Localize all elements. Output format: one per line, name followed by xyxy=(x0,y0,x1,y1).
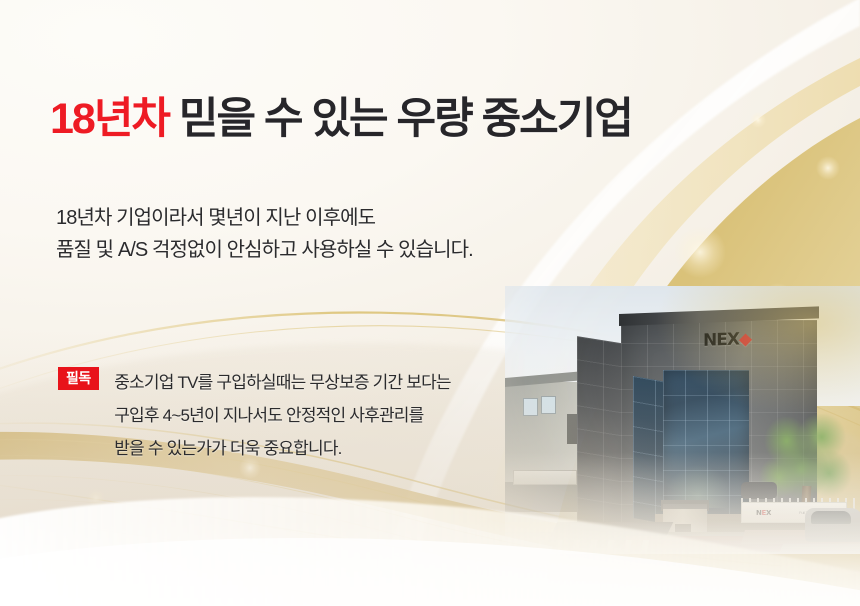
page-title: 18년차 믿을 수 있는 우량 중소기업 xyxy=(50,84,632,146)
body-copy-line: 18년차 기업이라서 몇년이 지난 이후에도 xyxy=(56,202,473,234)
body-copy: 18년차 기업이라서 몇년이 지난 이후에도 품질 및 A/S 걱정없이 안심하… xyxy=(56,202,473,266)
notice-badge: 필독 xyxy=(58,367,99,390)
promo-banner: NEX◆ NEX Full Time Safety Test xyxy=(0,0,860,606)
notice-text: 중소기업 TV를 구입하실때는 무상보증 기간 보다는 구입후 4~5년이 지나… xyxy=(114,366,451,465)
notice-line: 중소기업 TV를 구입하실때는 무상보증 기간 보다는 xyxy=(114,366,451,399)
notice-block: 필독 중소기업 TV를 구입하실때는 무상보증 기간 보다는 구입후 4~5년이… xyxy=(58,366,451,465)
headline-rest: 믿을 수 있는 우량 중소기업 xyxy=(179,95,632,143)
headline-accent: 18년차 xyxy=(50,95,169,143)
body-copy-line: 품질 및 A/S 걱정없이 안심하고 사용하실 수 있습니다. xyxy=(56,234,473,266)
photo-gold-overlay xyxy=(505,286,860,554)
company-building-photo: NEX◆ NEX Full Time Safety Test xyxy=(505,286,860,554)
notice-line: 구입후 4~5년이 지나서도 안정적인 사후관리를 xyxy=(114,399,451,432)
notice-line: 받을 수 있는가가 더욱 중요합니다. xyxy=(114,432,451,465)
